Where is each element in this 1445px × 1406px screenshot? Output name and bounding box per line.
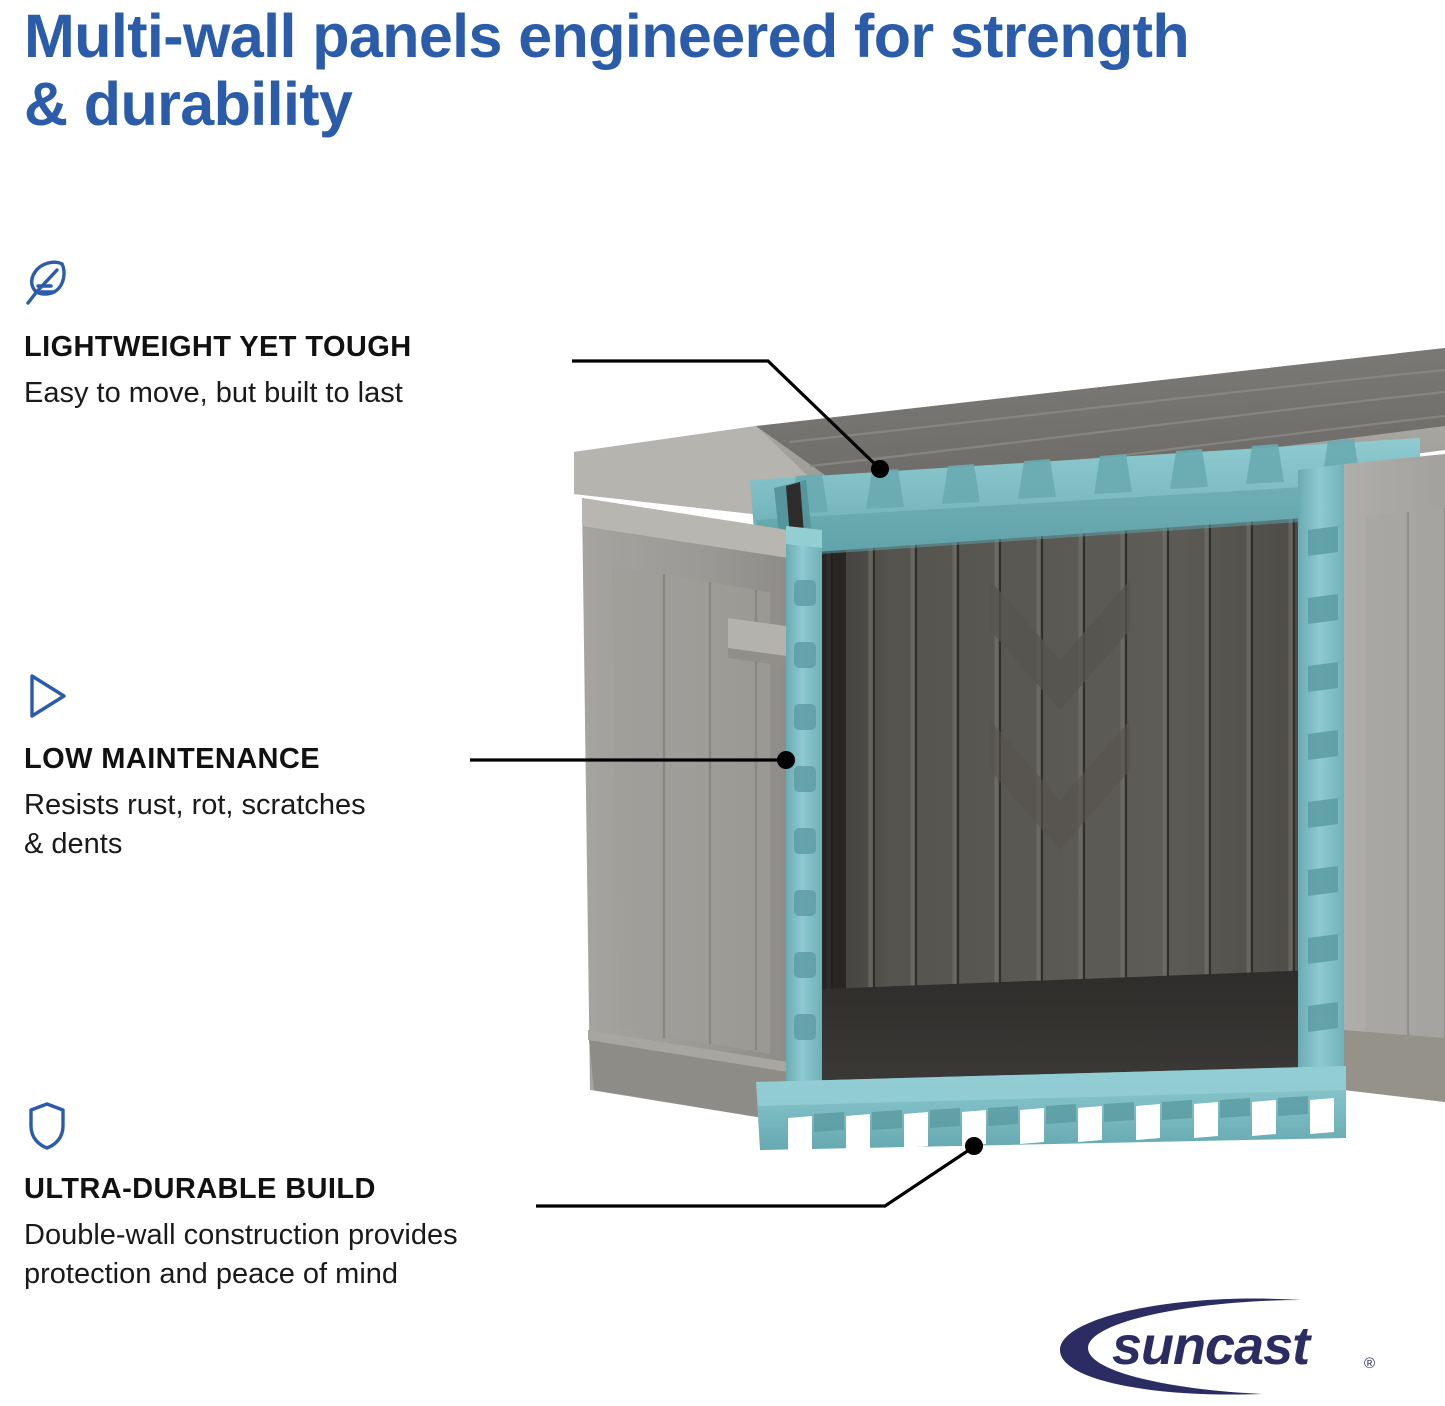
shield-icon [24,1100,70,1152]
feather-icon [24,258,70,310]
triangle-play-icon [24,670,70,722]
page-title: Multi-wall panels engineered for strengt… [24,2,1204,139]
product-cutaway-illustration [560,330,1445,1160]
feature-block-low-maintenance: LOW MAINTENANCE Resists rust, rot, scrat… [24,670,584,863]
logo-wordmark: suncast [1112,1316,1312,1376]
suncast-logo: suncast ® [1052,1296,1432,1400]
feature-block-ultra-durable: ULTRA-DURABLE BUILD Double-wall construc… [24,1100,584,1293]
feature-description: Double-wall construction provides protec… [24,1216,584,1293]
feature-title: LOW MAINTENANCE [24,744,584,774]
logo-registered-mark: ® [1364,1355,1375,1372]
feature-title: LIGHTWEIGHT YET TOUGH [24,332,584,362]
feature-description: Resists rust, rot, scratches & dents [24,786,584,863]
feature-title: ULTRA-DURABLE BUILD [24,1174,584,1204]
feature-description: Easy to move, but built to last [24,374,584,412]
feature-block-lightweight: LIGHTWEIGHT YET TOUGH Easy to move, but … [24,258,584,413]
